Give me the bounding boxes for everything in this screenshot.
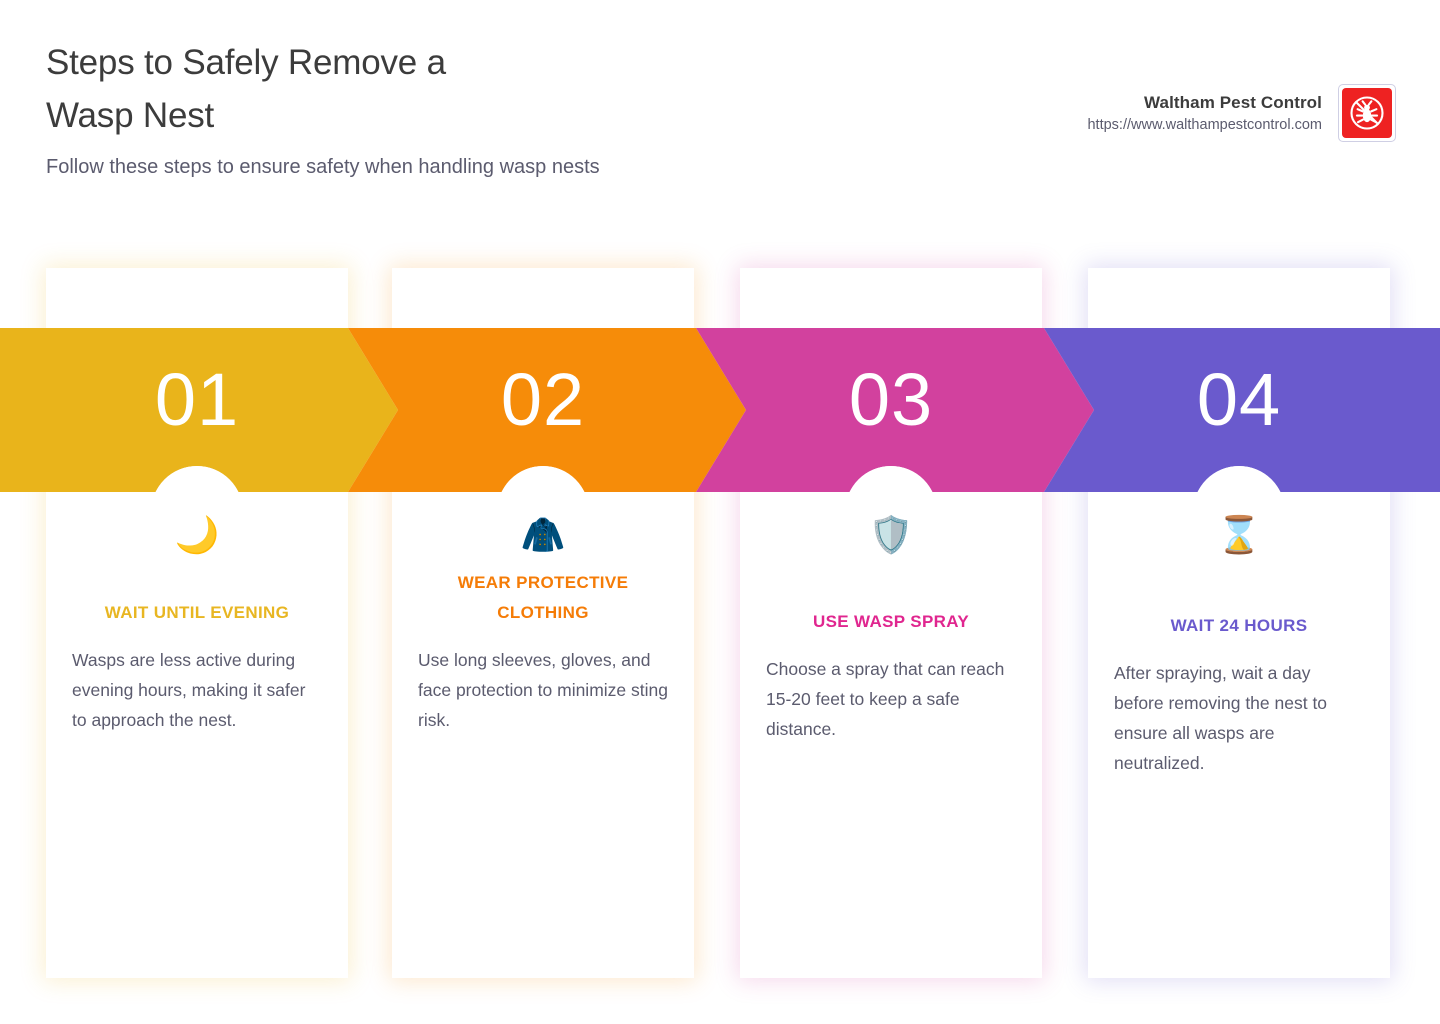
- step-number-4: 04: [1088, 355, 1390, 445]
- crescent-moon-icon: 🌙: [175, 517, 220, 553]
- step-card-4-body: WAIT 24 HOURS After spraying, wait a day…: [1088, 611, 1390, 778]
- step-card-2-body: WEAR PROTECTIVE CLOTHING Use long sleeve…: [392, 568, 694, 735]
- step-number-1: 01: [46, 355, 348, 445]
- step-icon-circle-4: ⌛: [1193, 466, 1285, 558]
- step-icon-circle-3: 🛡️: [845, 466, 937, 558]
- step-icon-circle-2: 🧥: [497, 466, 589, 558]
- step-card-4-heading: WAIT 24 HOURS: [1114, 611, 1364, 641]
- step-card-1-heading: WAIT UNTIL EVENING: [72, 598, 322, 628]
- step-card-2-description: Use long sleeves, gloves, and face prote…: [418, 645, 668, 735]
- step-card-4-description: After spraying, wait a day before removi…: [1114, 658, 1364, 778]
- step-number-2: 02: [392, 355, 694, 445]
- step-card-1-description: Wasps are less active during evening hou…: [72, 645, 322, 735]
- step-icon-circle-1: 🌙: [151, 466, 243, 558]
- step-card-1-body: WAIT UNTIL EVENING Wasps are less active…: [46, 598, 348, 735]
- step-card-3-description: Choose a spray that can reach 15-20 feet…: [766, 654, 1016, 744]
- step-number-3: 03: [740, 355, 1042, 445]
- infographic-page: Steps to Safely Remove a Wasp Nest Follo…: [0, 0, 1440, 1024]
- hourglass-icon: ⌛: [1217, 517, 1262, 553]
- coat-icon: 🧥: [521, 517, 566, 553]
- step-card-2-heading: WEAR PROTECTIVE CLOTHING: [418, 568, 668, 628]
- step-card-3-heading: USE WASP SPRAY: [766, 607, 1016, 637]
- shield-icon: 🛡️: [869, 517, 914, 553]
- step-card-3-body: USE WASP SPRAY Choose a spray that can r…: [740, 607, 1042, 744]
